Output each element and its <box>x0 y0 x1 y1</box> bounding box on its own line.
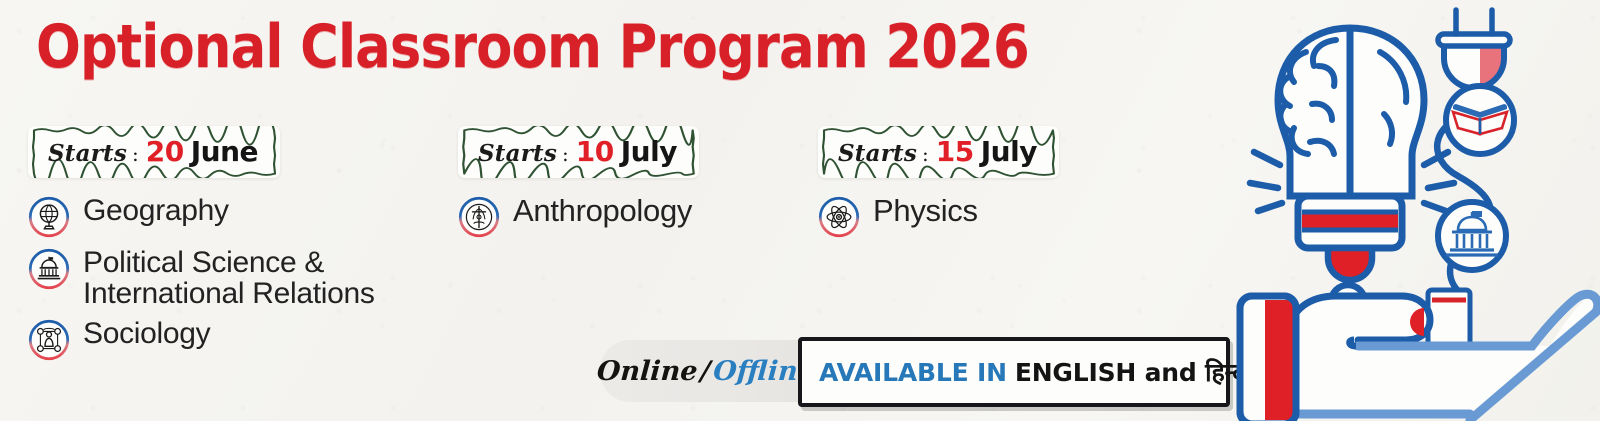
subject-list-1: Geography <box>28 194 375 361</box>
start-month: July <box>621 135 677 168</box>
start-day: 20 <box>146 135 184 168</box>
languages-label: ENGLISH and हिन्दी <box>1015 358 1252 387</box>
start-date-badge-1: Starts : 20 June <box>28 126 280 178</box>
start-date-badge-3: Starts : 15 July <box>818 126 1059 178</box>
subject-item-sociology[interactable]: Sociology <box>28 317 375 361</box>
globe-icon <box>28 196 70 238</box>
start-month: July <box>981 135 1037 168</box>
subject-item-physics[interactable]: Physics <box>818 194 1059 238</box>
subject-list-3: Physics <box>818 194 1059 238</box>
language-availability-box: AVAILABLE INENGLISH and हिन्दी <box>798 337 1230 407</box>
start-month: June <box>191 135 258 168</box>
start-day: 10 <box>576 135 614 168</box>
mode-pill-text: Online/Offline <box>596 356 816 387</box>
banner-root: Optional Classroom Program 2026 Starts :… <box>0 0 1600 421</box>
starts-colon: : <box>922 142 929 166</box>
atom-icon <box>818 196 860 238</box>
language-text: AVAILABLE INENGLISH and हिन्दी <box>802 355 1252 389</box>
subject-item-geography[interactable]: Geography <box>28 194 375 238</box>
mode-pill[interactable]: Online/Offline <box>600 340 812 402</box>
starts-label: Starts <box>478 140 557 167</box>
open-book-circle-icon <box>1442 86 1522 170</box>
subject-label: Physics <box>873 194 978 227</box>
program-column-1: Starts : 20 June <box>28 126 375 369</box>
starts-colon: : <box>132 142 139 166</box>
government-building-circle-icon <box>1434 202 1514 286</box>
page-title: Optional Classroom Program 2026 <box>36 17 1029 77</box>
mode-separator: / <box>699 356 711 387</box>
parliament-building-icon <box>28 248 70 290</box>
subject-label: Political Science & International Relati… <box>83 246 375 309</box>
mode-online-label: Online <box>596 356 699 387</box>
subject-list-2: Anthropology <box>458 194 699 238</box>
brain-lightbulb-icon <box>1278 28 1424 280</box>
starts-label: Starts <box>48 140 127 167</box>
starts-label: Starts <box>838 140 917 167</box>
starts-colon: : <box>562 142 569 166</box>
subject-label: Anthropology <box>513 194 692 227</box>
subject-item-anthropology[interactable]: Anthropology <box>458 194 699 238</box>
start-day: 15 <box>936 135 974 168</box>
subject-label: Sociology <box>83 317 210 349</box>
anthropology-icon <box>458 196 500 238</box>
subject-label: Geography <box>83 194 229 226</box>
brain-lightbulb-in-hand-illustration <box>1232 0 1600 421</box>
subject-item-political-science[interactable]: Political Science & International Relati… <box>28 246 375 309</box>
available-in-label: AVAILABLE IN <box>819 358 1007 387</box>
open-hand-icon <box>1240 294 1598 421</box>
program-column-3: Starts : 15 July <box>818 126 1059 246</box>
start-date-badge-2: Starts : 10 July <box>458 126 699 178</box>
program-column-2: Starts : 10 July <box>458 126 699 246</box>
social-network-icon <box>28 319 70 361</box>
